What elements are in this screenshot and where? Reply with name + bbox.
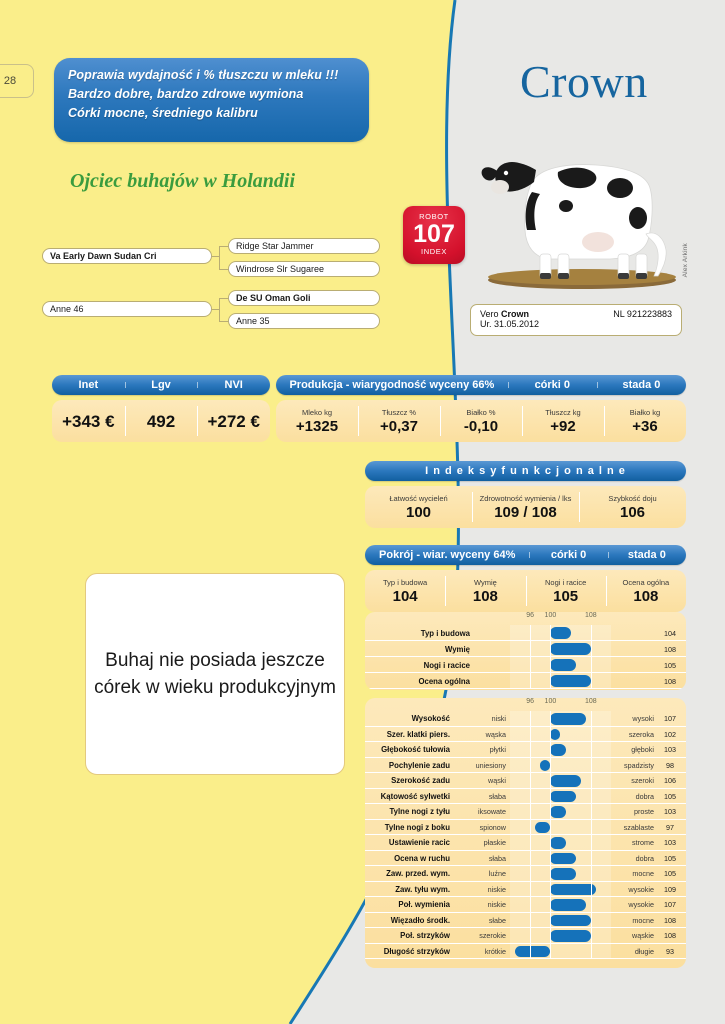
chart-bar <box>550 930 590 942</box>
chart-row-label: Poł. strzyków <box>365 928 455 944</box>
chart-row-value: 108 <box>656 913 684 929</box>
functional-trait-udder-health: Zdrowotność wymienia / lks109 / 108 <box>472 486 579 528</box>
bull-name-title: Crown <box>520 55 648 108</box>
chart-row-label: Zaw. tyłu wym. <box>365 882 455 898</box>
pedigree-connector-dam-stub <box>212 309 220 310</box>
pedigree-connector-dam-h1 <box>219 298 229 299</box>
no-daughters-note: Buhaj nie posiada jeszcze córek w wieku … <box>85 573 345 775</box>
chart-row-left-pole: słaba <box>455 851 510 867</box>
chart-bar <box>540 760 550 772</box>
conformation-summary-overall: Ocena ogólna108 <box>606 570 686 612</box>
chart-row: Ocena ogólna108 <box>365 673 686 689</box>
robot-badge-value: 107 <box>403 222 465 246</box>
chart-row-value: 108 <box>656 673 684 689</box>
chart-row-value: 108 <box>656 641 684 657</box>
chart-bar <box>550 791 575 803</box>
headline-bubble: Poprawia wydajność i % tłuszczu w mleku … <box>54 58 369 142</box>
chart-row-separator <box>365 958 686 959</box>
chart-bar <box>550 837 565 849</box>
chart-row-right-pole: strome <box>611 835 658 851</box>
chart-row-label: Wymię <box>365 641 475 657</box>
chart-row-value: 106 <box>656 773 684 789</box>
chart-row-label: Poł. wymienia <box>365 897 455 913</box>
chart-row-value: 98 <box>656 758 684 774</box>
chart-row-value: 103 <box>656 804 684 820</box>
conformation-header-pill: Pokrój - wiar. wyceny 64% córki 0 stada … <box>365 545 686 565</box>
index-value-nvi: +272 € <box>197 400 270 442</box>
page-number: 28 <box>4 75 16 87</box>
chart-bar <box>550 675 590 687</box>
chart-row-label: Ocena ogólna <box>365 673 475 689</box>
chart-row: Poł. wymienianiskiewysokie107 <box>365 897 686 913</box>
chart-bar <box>550 659 575 671</box>
chart-row-value: 105 <box>656 789 684 805</box>
chart-bar <box>550 884 595 896</box>
chart-row-label: Ocena w ruchu <box>365 851 455 867</box>
index-value-inet: +343 € <box>52 400 125 442</box>
chart-row-label: Wysokość <box>365 711 455 727</box>
catalog-page: 28 Poprawia wydajność i % tłuszczu w mle… <box>0 0 725 1024</box>
chart-bar <box>535 822 550 834</box>
chart-row-value: 107 <box>656 711 684 727</box>
chart-row: Ocena w ruchusłabadobra105 <box>365 851 686 867</box>
chart-bar <box>515 946 550 958</box>
chart-row-left-pole: niski <box>455 711 510 727</box>
chart-row-label: Więzadło środk. <box>365 913 455 929</box>
axis-tick-96: 96 <box>526 698 534 705</box>
functional-trait-calving-ease: Łatwość wycieleń100 <box>365 486 472 528</box>
chart-bar <box>550 915 590 927</box>
index-header-nvi: NVI <box>197 379 270 391</box>
chart-row-separator <box>365 688 686 689</box>
pedigree-connector-sire-h2 <box>219 269 229 270</box>
chart-bar <box>550 868 575 880</box>
chart-bar <box>550 775 580 787</box>
chart-row-value: 104 <box>656 625 684 641</box>
axis-tick-100: 100 <box>545 698 557 705</box>
headline-line-1: Poprawia wydajność i % tłuszczu w mleku … <box>68 67 355 83</box>
index-value-lgv: 492 <box>125 400 198 442</box>
conformation-summary-type: Typ i budowa104 <box>365 570 445 612</box>
pedigree-dam-sire: De SU Oman Goli <box>228 290 380 306</box>
chart-row-label: Zaw. przed. wym. <box>365 866 455 882</box>
chart-row-value: 103 <box>656 742 684 758</box>
chart-row-label: Tylne nogi z tyłu <box>365 804 455 820</box>
conformation-summary-legs: Nogi i racice105 <box>526 570 606 612</box>
conformation-header-title: Pokrój - wiar. wyceny 64% <box>365 549 529 561</box>
chart-gridline-96 <box>530 711 531 959</box>
pedigree-connector-sire-stub <box>212 256 220 257</box>
chart-row-left-pole: krótkie <box>455 944 510 960</box>
chart-row-right-pole: głęboki <box>611 742 658 758</box>
chart-row: Pochylenie zaduuniesionyspadzisty98 <box>365 758 686 774</box>
index-header-inet: Inet <box>52 379 125 391</box>
pedigree-dam: Anne 46 <box>42 301 212 317</box>
chart-bar <box>550 853 575 865</box>
chart-row-right-pole: mocne <box>611 913 658 929</box>
bull-id-card: Vero Crown NL 921223883 Ur. 31.05.2012 <box>470 304 682 336</box>
functional-trait-milking-speed: Szybkość doju106 <box>579 486 686 528</box>
chart-row-right-pole: spadzisty <box>611 758 658 774</box>
functional-header-title: I n d e k s y f u n k c j o n a l n e <box>365 465 686 477</box>
chart-row: Zaw. tyłu wym.niskiewysokie109 <box>365 882 686 898</box>
chart-bar <box>550 627 570 639</box>
chart-row-value: 105 <box>656 851 684 867</box>
robot-badge-bottom-label: INDEX <box>403 247 465 256</box>
chart-row-right-pole: wąskie <box>611 928 658 944</box>
pedigree-sire-dam: Windrose Slr Sugaree <box>228 261 380 277</box>
chart-row-label: Kątowość sylwetki <box>365 789 455 805</box>
chart-row-right-pole: długie <box>611 944 658 960</box>
pedigree-dam-dam: Anne 35 <box>228 313 380 329</box>
chart-row-right-pole: wysoki <box>611 711 658 727</box>
chart-row-right-pole: wysokie <box>611 897 658 913</box>
conformation-header-daughters: córki 0 <box>529 549 607 561</box>
chart-row-value: 109 <box>656 882 684 898</box>
axis-tick-96: 96 <box>526 612 534 619</box>
production-trait-protein-pct: Białko %-0,10 <box>440 400 522 442</box>
chart-row-label: Tylne nogi z boku <box>365 820 455 836</box>
robot-index-badge: ROBOT 107 INDEX <box>403 206 465 264</box>
chart-row: Zaw. przed. wym.luźnemocne105 <box>365 866 686 882</box>
bull-id-shortname: Crown <box>501 309 529 319</box>
chart-row: Tylne nogi z bokuspionowszablaste97 <box>365 820 686 836</box>
headline-line-2: Bardzo dobre, bardzo zdrowe wymiona <box>68 86 355 102</box>
bull-id-prefix: Vero <box>480 309 499 319</box>
chart-row-left-pole: luźne <box>455 866 510 882</box>
chart-row-left-pole: słabe <box>455 913 510 929</box>
chart-bar <box>550 744 565 756</box>
chart-row-left-pole: wąska <box>455 727 510 743</box>
production-header-daughters: córki 0 <box>508 379 597 391</box>
chart-row-left-pole: iksowate <box>455 804 510 820</box>
chart-row-right-pole: szablaste <box>611 820 658 836</box>
chart-row-left-pole: płaskie <box>455 835 510 851</box>
chart-row-value: 93 <box>656 944 684 960</box>
production-trait-fat-kg: Tłuszcz kg+92 <box>522 400 604 442</box>
bull-birth-date: Ur. 31.05.2012 <box>480 319 672 329</box>
chart-gridline-96 <box>530 625 531 689</box>
chart-row-label: Długość strzyków <box>365 944 455 960</box>
chart-row-right-pole: dobra <box>611 851 658 867</box>
chart-row-label: Ustawienie racic <box>365 835 455 851</box>
chart-row-value: 105 <box>656 866 684 882</box>
chart-gridline-108 <box>591 625 592 689</box>
chart-row-left-pole: niskie <box>455 897 510 913</box>
chart-row: Szer. klatki piers.wąskaszeroka102 <box>365 727 686 743</box>
chart-bar <box>550 643 590 655</box>
conformation-header-herds: stada 0 <box>608 549 686 561</box>
production-header-pill: Produkcja - wiarygodność wyceny 66% córk… <box>276 375 686 395</box>
chart-row-left-pole: spionow <box>455 820 510 836</box>
chart-row-left-pole: słaba <box>455 789 510 805</box>
pedigree-sire: Va Early Dawn Sudan Cri <box>42 248 212 264</box>
chart-bar <box>550 713 585 725</box>
chart-row-left-pole: uniesiony <box>455 758 510 774</box>
index-values-panel: +343 € 492 +272 € <box>52 400 270 442</box>
chart-row-left-pole: niskie <box>455 882 510 898</box>
functional-header-pill: I n d e k s y f u n k c j o n a l n e <box>365 461 686 481</box>
chart-row-label: Szer. klatki piers. <box>365 727 455 743</box>
linear-traits-chart: 96100108Wysokośćniskiwysoki107Szer. klat… <box>365 698 686 968</box>
conformation-summary-udder: Wymię108 <box>445 570 525 612</box>
chart-row-right-pole: szeroka <box>611 727 658 743</box>
axis-tick-108: 108 <box>585 698 597 705</box>
production-trait-protein-kg: Białko kg+36 <box>604 400 686 442</box>
chart-row-value: 97 <box>656 820 684 836</box>
chart-scale-row: 96100108 <box>365 698 686 711</box>
chart-row-right-pole: szeroki <box>611 773 658 789</box>
chart-row: Typ i budowa104 <box>365 625 686 641</box>
axis-tick-100: 100 <box>545 612 557 619</box>
pedigree-sire-sire: Ridge Star Jammer <box>228 238 380 254</box>
chart-row-label: Pochylenie zadu <box>365 758 455 774</box>
chart-bar <box>550 729 560 741</box>
bull-registration-number: NL 921223883 <box>613 309 672 319</box>
chart-bar <box>550 806 565 818</box>
chart-row-label: Głębokość tułowia <box>365 742 455 758</box>
pedigree-connector-dam-v <box>219 298 220 322</box>
chart-row-value: 102 <box>656 727 684 743</box>
chart-gridline-100 <box>550 625 551 689</box>
bull-id-name: Vero Crown <box>480 309 529 319</box>
pedigree-connector-sire-h1 <box>219 246 229 247</box>
headline-line-3: Córki mocne, średniego kalibru <box>68 105 355 121</box>
conformation-summary-panel: Typ i budowa104 Wymię108 Nogi i racice10… <box>365 570 686 612</box>
chart-row: Szerokość zaduwąskiszeroki106 <box>365 773 686 789</box>
functional-values-panel: Łatwość wycieleń100 Zdrowotność wymienia… <box>365 486 686 528</box>
chart-row-right-pole: proste <box>611 804 658 820</box>
chart-row: Nogi i racice105 <box>365 657 686 673</box>
chart-row-right-pole: mocne <box>611 866 658 882</box>
chart-row: Ustawienie racicpłaskiestrome103 <box>365 835 686 851</box>
tagline: Ojciec buhajów w Holandii <box>70 170 295 193</box>
chart-row: Wysokośćniskiwysoki107 <box>365 711 686 727</box>
production-header-title: Produkcja - wiarygodność wyceny 66% <box>276 379 508 391</box>
production-header-herds: stada 0 <box>597 379 686 391</box>
chart-row: Więzadło środk.słabemocne108 <box>365 913 686 929</box>
chart-row-label: Nogi i racice <box>365 657 475 673</box>
chart-row: Tylne nogi z tyłuiksowateproste103 <box>365 804 686 820</box>
chart-row: Kątowość sylwetkisłabadobra105 <box>365 789 686 805</box>
chart-row: Długość strzykówkrótkiedługie93 <box>365 944 686 960</box>
page-number-tab: 28 <box>0 64 34 98</box>
chart-row-label: Typ i budowa <box>365 625 475 641</box>
chart-body: Wysokośćniskiwysoki107Szer. klatki piers… <box>365 711 686 959</box>
production-trait-fat-pct: Tłuszcz %+0,37 <box>358 400 440 442</box>
index-header-lgv: Lgv <box>125 379 198 391</box>
axis-tick-108: 108 <box>585 612 597 619</box>
chart-row-value: 107 <box>656 897 684 913</box>
chart-row-right-pole: wysokie <box>611 882 658 898</box>
chart-gridline-108 <box>591 711 592 959</box>
chart-row: Wymię108 <box>365 641 686 657</box>
chart-row-value: 103 <box>656 835 684 851</box>
chart-row-left-pole: wąski <box>455 773 510 789</box>
chart-scale-row: 96100108 <box>365 612 686 625</box>
chart-row-label: Szerokość zadu <box>365 773 455 789</box>
chart-gridline-100 <box>550 711 551 959</box>
chart-row-value: 105 <box>656 657 684 673</box>
index-header-pill: Inet Lgv NVI <box>52 375 270 395</box>
bull-photo <box>470 130 685 295</box>
chart-bar <box>550 899 585 911</box>
production-values-panel: Mleko kg+1325 Tłuszcz %+0,37 Białko %-0,… <box>276 400 686 442</box>
pedigree-connector-sire-v <box>219 246 220 270</box>
pedigree-connector-dam-h2 <box>219 321 229 322</box>
production-trait-milk: Mleko kg+1325 <box>276 400 358 442</box>
chart-row-value: 108 <box>656 928 684 944</box>
chart-row-right-pole: dobra <box>611 789 658 805</box>
chart-row-left-pole: szerokie <box>455 928 510 944</box>
chart-row: Poł. strzykówszerokiewąskie108 <box>365 928 686 944</box>
chart-row: Głębokość tułowiapłytkigłęboki103 <box>365 742 686 758</box>
conformation-summary-chart: 96100108Typ i budowa104Wymię108Nogi i ra… <box>365 612 686 690</box>
chart-row-left-pole: płytki <box>455 742 510 758</box>
chart-body: Typ i budowa104Wymię108Nogi i racice105O… <box>365 625 686 689</box>
